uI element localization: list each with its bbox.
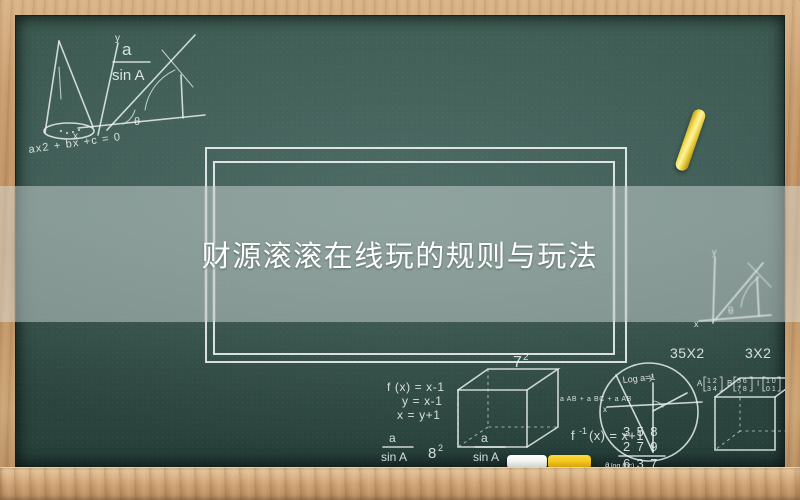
svg-text:y = x-1: y = x-1	[402, 394, 443, 408]
svg-text:f: f	[571, 428, 575, 443]
function-equations-bottomcenter: f (x) = x-1 y = x-1 x = y+1	[387, 380, 445, 422]
svg-text:2: 2	[438, 443, 443, 453]
sine-rule-formula-bottomleft: a sin A	[381, 431, 413, 464]
svg-text:B: B	[727, 379, 732, 388]
svg-text:3 5 8: 3 5 8	[623, 424, 659, 439]
svg-text:x = y+1: x = y+1	[397, 408, 441, 422]
svg-text:f (x) = x-1: f (x) = x-1	[387, 380, 445, 394]
chalkboard-poster: .ck { stroke:#e9f0ec; stroke-width:1.6; …	[0, 0, 800, 500]
svg-text:-1: -1	[579, 426, 587, 436]
svg-text:θ: θ	[134, 116, 140, 128]
svg-text:sin A: sin A	[473, 450, 499, 464]
svg-text:1 2: 1 2	[707, 378, 717, 385]
svg-text:sin A: sin A	[381, 450, 407, 464]
svg-text:sin A: sin A	[112, 67, 145, 84]
svg-text:I: I	[757, 379, 759, 388]
svg-text:ax2 + bx +c = 0: ax2 + bx +c = 0	[28, 131, 122, 156]
sine-rule-formula-topleft: a sin A	[112, 40, 150, 84]
svg-text:Log a=1: Log a=1	[622, 372, 656, 385]
svg-text:35X2: 35X2	[670, 345, 705, 361]
svg-text:y: y	[115, 33, 120, 44]
inverse-function-equation: f -1 (x) = x+1	[571, 426, 644, 443]
quadratic-formula: ax2 + bx +c = 0	[28, 131, 122, 156]
log-identity: Log a=1	[622, 372, 656, 385]
svg-text:3 4: 3 4	[707, 386, 717, 393]
yellow-chalk-stick	[674, 108, 707, 173]
chalk-tray-ledge	[0, 467, 800, 500]
matrix-dimension-labels: 35X2 3X2	[670, 345, 771, 361]
svg-text:x: x	[73, 131, 78, 142]
svg-text:a AB + a BC + a AB: a AB + a BC + a AB	[560, 396, 632, 403]
svg-text:x: x	[603, 405, 607, 414]
svg-text:5 6: 5 6	[737, 378, 747, 385]
angle-diagram-topleft: y x θ	[73, 33, 205, 142]
subtraction-sum: 3 5 8 2 7 9 6 3 7	[619, 424, 665, 468]
svg-text:8: 8	[428, 445, 436, 462]
sine-rule-formula-bottomcenter: a sin A	[473, 431, 505, 464]
svg-text:a: a	[389, 431, 396, 445]
svg-text:7 8: 7 8	[737, 386, 747, 393]
svg-text:1 0: 1 0	[766, 378, 776, 385]
page-title: 财源滚滚在线玩的规则与玩法	[0, 186, 800, 322]
eight-squared: 8 2	[428, 443, 443, 462]
svg-text:A: A	[697, 379, 703, 388]
svg-text:y: y	[649, 373, 653, 382]
cube-diagram-center	[458, 369, 558, 447]
circle-axes-diagram: y x	[600, 363, 702, 461]
cone-diagram	[44, 41, 94, 139]
svg-text:a: a	[122, 40, 132, 59]
matrix-notation: A 1 2 3 4 B 5 6 7 8 I 1 0 0 1	[697, 377, 780, 393]
svg-text:3X2: 3X2	[745, 345, 771, 361]
small-expression: a AB + a BC + a AB	[560, 396, 632, 403]
svg-text:0 1: 0 1	[766, 386, 776, 393]
cube-diagram-right	[715, 378, 785, 450]
svg-text:(x) = x+1: (x) = x+1	[589, 428, 644, 443]
svg-text:2 7 9: 2 7 9	[623, 439, 659, 454]
svg-text:a: a	[481, 431, 488, 445]
